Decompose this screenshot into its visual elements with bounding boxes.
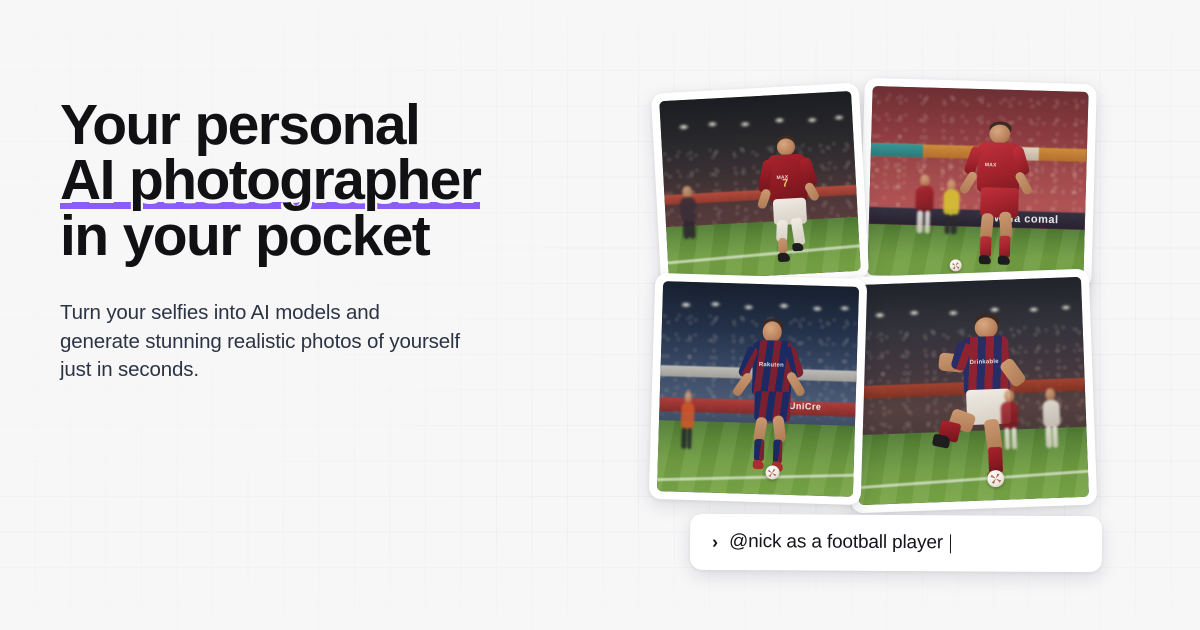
photo-3-frame: UniCre Rakuten [657,281,859,497]
hero-copy: Your personal AI photographer in your po… [60,98,600,385]
photo-3-referee [678,391,697,450]
photo-4-background-player-2 [1039,388,1064,450]
hero-banner: Your personal AI photographer in your po… [0,0,1200,630]
photo-4-background-player [998,389,1023,451]
photo-4-scene: Drinkable [851,277,1089,505]
headline-line-2: AI photographer [60,153,600,209]
prompt-input-value[interactable]: @nick as a football player [729,531,943,554]
gallery-photo-4[interactable]: Drinkable [843,269,1097,514]
photo-3-scene: UniCre Rakuten [657,281,859,497]
headline-highlight: AI photographer [60,153,480,209]
photo-1-player: MAX 7 [750,131,845,269]
photo-2-referee [940,179,963,236]
prompt-input-bar[interactable]: › @nick as a football player [690,514,1102,573]
subtitle-line-3: just in seconds. [60,356,540,385]
chevron-right-icon: › [712,532,718,550]
text-cursor-caret [950,534,952,553]
photo-4-frame: Drinkable [851,277,1089,505]
gallery-photo-2[interactable]: wvfa comal MAX 2 [859,78,1097,289]
subtitle-line-2: generate stunning realistic photos of yo… [60,328,540,357]
photo-2-frame: wvfa comal MAX 2 [867,86,1088,281]
photo-4-player: Drinkable [928,311,1045,491]
photo-2-player: MAX 2 [958,121,1053,271]
gallery-photo-1[interactable]: MAX 7 [651,83,869,290]
photo-1-background-player [675,186,701,241]
subtitle-line-1: Turn your selfies into AI models and [60,299,540,328]
page-title: Your personal AI photographer in your po… [60,98,600,263]
photo-3-player: Rakuten [736,317,823,479]
hero-subtitle: Turn your selfies into AI models and gen… [60,263,540,385]
gallery-photo-3[interactable]: UniCre Rakuten [649,273,868,505]
photo-1-scene: MAX 7 [659,91,860,281]
photo-2-scene: wvfa comal MAX 2 [867,86,1088,281]
photo-1-frame: MAX 7 [659,91,860,281]
photo-4-ball [987,470,1005,488]
headline-line-1: Your personal [60,98,600,152]
photo-2-background-player [912,174,937,235]
photo-gallery: MAX 7 [640,58,1110,578]
headline-line-3: in your pocket [60,209,600,263]
